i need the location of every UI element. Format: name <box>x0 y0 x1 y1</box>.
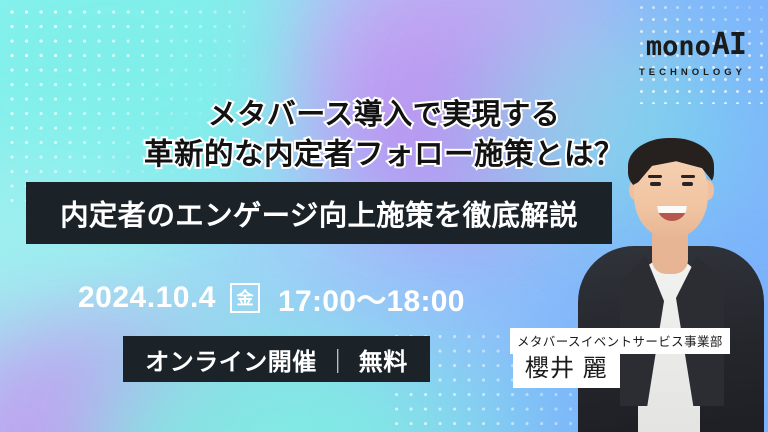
event-schedule: 2024.10.4 金 17:00〜18:00 <box>78 276 465 320</box>
badge-divider: ｜ <box>326 342 350 377</box>
event-price-label: 無料 <box>359 342 408 377</box>
speaker-eyebrow-left <box>648 175 662 178</box>
speaker-name-label: 櫻井 麗 <box>513 352 620 388</box>
logo-wordmark-mono: mono <box>646 33 711 60</box>
subtitle-banner: 内定者のエンゲージ向上施策を徹底解説 <box>26 182 612 244</box>
event-day-of-week-badge: 金 <box>230 283 260 313</box>
headline-line-1: メタバース導入で実現する <box>0 98 768 133</box>
page-title: メタバース導入で実現する 革新的な内定者フォロー施策とは？ <box>0 98 768 172</box>
brand-logo: monoAI TECHNOLOGY <box>639 30 746 78</box>
slide-canvas: monoAI TECHNOLOGY メタバース導入で実現する 革新的な内定者フォ… <box>0 0 768 432</box>
event-format-badge: オンライン開催 ｜ 無料 <box>123 336 430 382</box>
speaker-eye-right <box>682 182 693 186</box>
speaker-teeth <box>657 206 687 213</box>
logo-subtitle: TECHNOLOGY <box>639 67 746 78</box>
event-format-label: オンライン開催 <box>145 342 317 377</box>
event-time: 17:00〜18:00 <box>278 276 465 320</box>
logo-wordmark-ai: AI <box>712 30 746 60</box>
event-date: 2024.10.4 <box>78 281 216 315</box>
subtitle-banner-text: 内定者のエンゲージ向上施策を徹底解説 <box>60 193 578 234</box>
logo-wordmark: monoAI <box>639 30 746 60</box>
speaker-eyebrow-right <box>681 175 695 178</box>
headline-line-2: 革新的な内定者フォロー施策とは？ <box>0 137 768 172</box>
speaker-department-label: メタバースイベントサービス事業部 <box>510 328 730 354</box>
speaker-eye-left <box>650 182 661 186</box>
